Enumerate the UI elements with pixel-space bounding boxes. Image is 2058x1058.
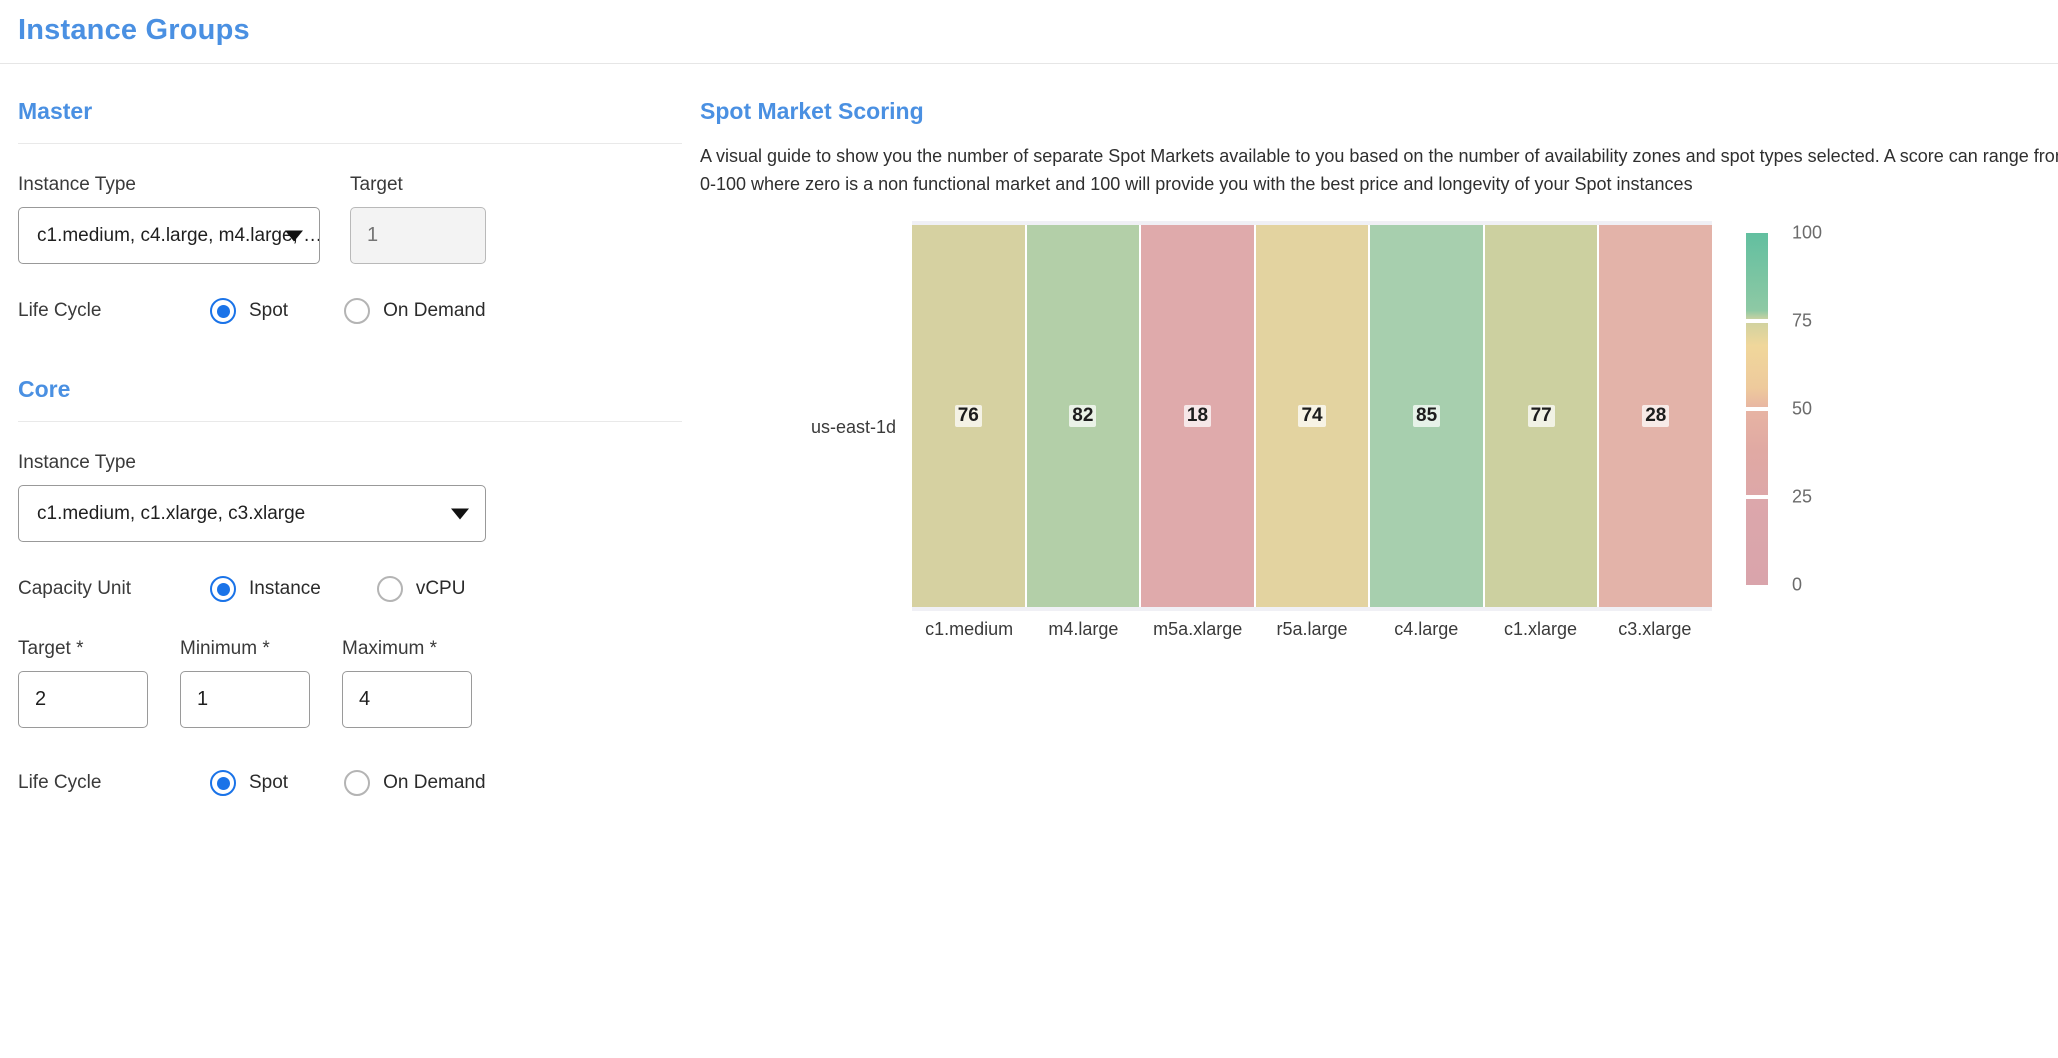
core-target-label: Target * (18, 638, 148, 660)
spot-market-heading: Spot Market Scoring (700, 98, 2058, 125)
colorbar-tick-label: 50 (1792, 398, 1812, 419)
core-capacity-unit-option-vcpu[interactable]: vCPU (377, 576, 466, 602)
master-life-cycle-on-demand-label: On Demand (383, 300, 485, 322)
core-life-cycle-row: Life Cycle Spot On Demand (18, 770, 682, 796)
instance-groups-form: Master Instance Type c1.medium, c4.large… (0, 64, 700, 796)
colorbar-tick-label: 75 (1792, 310, 1812, 331)
heatmap-cell-value: 18 (1184, 405, 1211, 427)
core-section-heading: Core (18, 376, 682, 403)
core-maximum-input[interactable] (342, 671, 472, 728)
radio-icon-selected (210, 576, 236, 602)
spot-market-description: A visual guide to show you the number of… (700, 143, 2058, 199)
core-maximum-label: Maximum * (342, 638, 472, 660)
heatmap-cell-value: 77 (1528, 405, 1555, 427)
colorbar-tick-separator (1746, 319, 1768, 323)
heatmap-cell[interactable]: 82 (1027, 225, 1142, 607)
heatmap-cell[interactable]: 18 (1141, 225, 1256, 607)
radio-icon-unselected (377, 576, 403, 602)
radio-icon-unselected (344, 770, 370, 796)
core-capacity-unit-row: Capacity Unit Instance vCPU (18, 576, 682, 602)
heatmap-cell-value: 82 (1069, 405, 1096, 427)
page-header: Instance Groups (0, 0, 2058, 64)
master-field-row: Instance Type c1.medium, c4.large, m4.la… (18, 174, 682, 264)
colorbar-tick-label: 100 (1792, 222, 1822, 243)
master-life-cycle-row: Life Cycle Spot On Demand (18, 298, 682, 324)
master-instance-type-label: Instance Type (18, 174, 320, 196)
master-target-label: Target (350, 174, 486, 196)
master-life-cycle-option-spot[interactable]: Spot (210, 298, 288, 324)
heatmap-cell[interactable]: 85 (1370, 225, 1485, 607)
radio-icon-selected (210, 298, 236, 324)
chevron-down-icon (285, 230, 303, 241)
page-title: Instance Groups (18, 14, 2040, 47)
colorbar-tick-label: 0 (1792, 574, 1802, 595)
core-capacity-unit-option-instance[interactable]: Instance (210, 576, 321, 602)
spot-market-heatmap-chart: us-east-1d 76821874857728 c1.mediumm4.la… (700, 221, 2058, 641)
heatmap-colorbar: 1007550250 (1746, 229, 1906, 609)
master-life-cycle-spot-label: Spot (249, 300, 288, 322)
heatmap-cell-value: 85 (1413, 405, 1440, 427)
heatmap-x-axis-labels: c1.mediumm4.largem5a.xlarger5a.largec4.l… (912, 619, 1712, 640)
heatmap-cell[interactable]: 28 (1599, 225, 1712, 607)
master-target-group: Target (350, 174, 486, 264)
heatmap-cell-value: 28 (1642, 405, 1669, 427)
master-instance-type-group: Instance Type c1.medium, c4.large, m4.la… (18, 174, 320, 264)
core-target-group: Target * (18, 638, 148, 728)
master-life-cycle-option-on-demand[interactable]: On Demand (344, 298, 485, 324)
core-capacity-unit-vcpu-label: vCPU (416, 578, 466, 600)
heatmap-x-tick-label: c1.xlarge (1483, 619, 1597, 640)
heatmap-row-label: us-east-1d (700, 417, 896, 438)
master-section-heading: Master (18, 98, 682, 125)
core-instance-type-value: c1.medium, c1.xlarge, c3.xlarge (37, 503, 305, 525)
core-capacity-unit-instance-label: Instance (249, 578, 321, 600)
core-maximum-group: Maximum * (342, 638, 472, 728)
master-divider (18, 143, 682, 144)
core-life-cycle-label: Life Cycle (18, 772, 210, 794)
colorbar-tick-separator (1746, 495, 1768, 499)
colorbar-tick-label: 25 (1792, 486, 1812, 507)
core-capacity-fields: Target * Minimum * Maximum * (18, 638, 682, 728)
core-minimum-group: Minimum * (180, 638, 310, 728)
heatmap-x-tick-label: m4.large (1026, 619, 1140, 640)
core-life-cycle-on-demand-label: On Demand (383, 772, 485, 794)
heatmap-grid: 76821874857728 (912, 221, 1712, 611)
core-minimum-input[interactable] (180, 671, 310, 728)
core-instance-type-group: Instance Type c1.medium, c1.xlarge, c3.x… (18, 452, 682, 542)
core-capacity-unit-label: Capacity Unit (18, 578, 210, 600)
chevron-down-icon (451, 508, 469, 519)
core-divider (18, 421, 682, 422)
heatmap-cell[interactable]: 74 (1256, 225, 1371, 607)
spot-market-scoring-panel: Spot Market Scoring A visual guide to sh… (700, 64, 2058, 641)
core-life-cycle-option-spot[interactable]: Spot (210, 770, 288, 796)
heatmap-x-tick-label: r5a.large (1255, 619, 1369, 640)
heatmap-x-tick-label: c4.large (1369, 619, 1483, 640)
radio-icon-selected (210, 770, 236, 796)
core-life-cycle-option-on-demand[interactable]: On Demand (344, 770, 485, 796)
core-minimum-label: Minimum * (180, 638, 310, 660)
core-target-input[interactable] (18, 671, 148, 728)
core-instance-type-select[interactable]: c1.medium, c1.xlarge, c3.xlarge (18, 485, 486, 542)
body-grid: Master Instance Type c1.medium, c4.large… (0, 64, 2058, 796)
radio-icon-unselected (344, 298, 370, 324)
master-target-input[interactable] (350, 207, 486, 264)
heatmap-cell-value: 74 (1298, 405, 1325, 427)
heatmap-cell[interactable]: 76 (912, 225, 1027, 607)
heatmap-cell-value: 76 (955, 405, 982, 427)
heatmap-x-tick-label: c1.medium (912, 619, 1026, 640)
heatmap-cell[interactable]: 77 (1485, 225, 1600, 607)
master-instance-type-select[interactable]: c1.medium, c4.large, m4.large, … (18, 207, 320, 264)
core-life-cycle-spot-label: Spot (249, 772, 288, 794)
master-life-cycle-label: Life Cycle (18, 300, 210, 322)
colorbar-tick-separator (1746, 407, 1768, 411)
heatmap-x-tick-label: c3.xlarge (1598, 619, 1712, 640)
core-instance-type-label: Instance Type (18, 452, 682, 474)
heatmap-x-tick-label: m5a.xlarge (1141, 619, 1255, 640)
master-instance-type-value: c1.medium, c4.large, m4.large, … (37, 225, 320, 247)
